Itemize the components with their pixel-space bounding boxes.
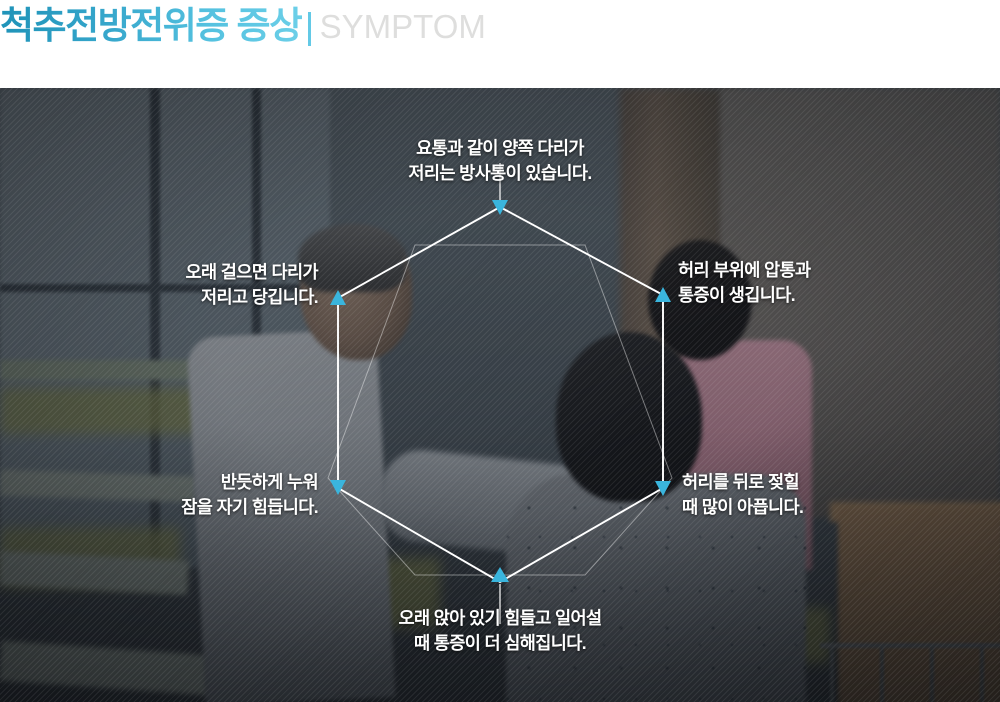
symptom-line-1: 허리 부위에 압통과: [678, 258, 978, 283]
symptom-line-2: 잠을 자기 힘듭니다.: [30, 495, 318, 520]
page-root: 척추전방전위증 증상 SYMPTOM: [0, 0, 1000, 702]
symptom-line-2: 통증이 생깁니다.: [678, 283, 978, 308]
page-title-english: SYMPTOM: [320, 5, 486, 49]
symptom-line-2: 저리는 방사통이 있습니다.: [350, 161, 650, 186]
symptom-line-1: 허리를 뒤로 젖힐: [682, 470, 982, 495]
symptom-line-1: 오래 앉아 있기 힘들고 일어설: [330, 606, 670, 631]
symptom-label-lower-back-tenderness: 허리 부위에 압통과 통증이 생깁니다.: [678, 258, 978, 308]
symptom-line-1: 반듯하게 누워: [30, 470, 318, 495]
inner-hexagon: [328, 245, 672, 575]
arrow-marker-top: [492, 200, 508, 215]
arrow-marker-lower-left: [330, 480, 346, 495]
symptom-label-back-extension-pain: 허리를 뒤로 젖힐 때 많이 아픕니다.: [682, 470, 982, 520]
symptom-line-2: 저리고 당깁니다.: [30, 285, 318, 310]
symptom-label-sleeping-difficulty: 반듯하게 누워 잠을 자기 힘듭니다.: [30, 470, 318, 520]
title-divider: [308, 12, 311, 46]
photo-stage: 요통과 같이 양쪽 다리가 저리는 방사통이 있습니다. 오래 걸으면 다리가 …: [0, 88, 1000, 702]
page-title: 척추전방전위증 증상 SYMPTOM: [0, 3, 486, 49]
symptom-line-2: 때 많이 아픕니다.: [682, 495, 982, 520]
symptom-line-1: 요통과 같이 양쪽 다리가: [350, 136, 650, 161]
page-title-korean: 척추전방전위증 증상: [0, 3, 302, 49]
symptom-label-radiating-pain: 요통과 같이 양쪽 다리가 저리는 방사통이 있습니다.: [350, 136, 650, 186]
symptom-hexagon-diagram: 요통과 같이 양쪽 다리가 저리는 방사통이 있습니다. 오래 걸으면 다리가 …: [0, 88, 1000, 702]
symptom-label-walking-numbness: 오래 걸으면 다리가 저리고 당깁니다.: [30, 260, 318, 310]
arrow-marker-upper-right: [655, 287, 671, 302]
symptom-line-2: 때 통증이 더 심해집니다.: [330, 631, 670, 656]
arrow-marker-upper-left: [330, 290, 346, 305]
symptom-label-sitting-standing-pain: 오래 앉아 있기 힘들고 일어설 때 통증이 더 심해집니다.: [330, 606, 670, 656]
outer-hexagon: [338, 207, 663, 582]
symptom-line-1: 오래 걸으면 다리가: [30, 260, 318, 285]
page-header: 척추전방전위증 증상 SYMPTOM: [0, 0, 1000, 88]
